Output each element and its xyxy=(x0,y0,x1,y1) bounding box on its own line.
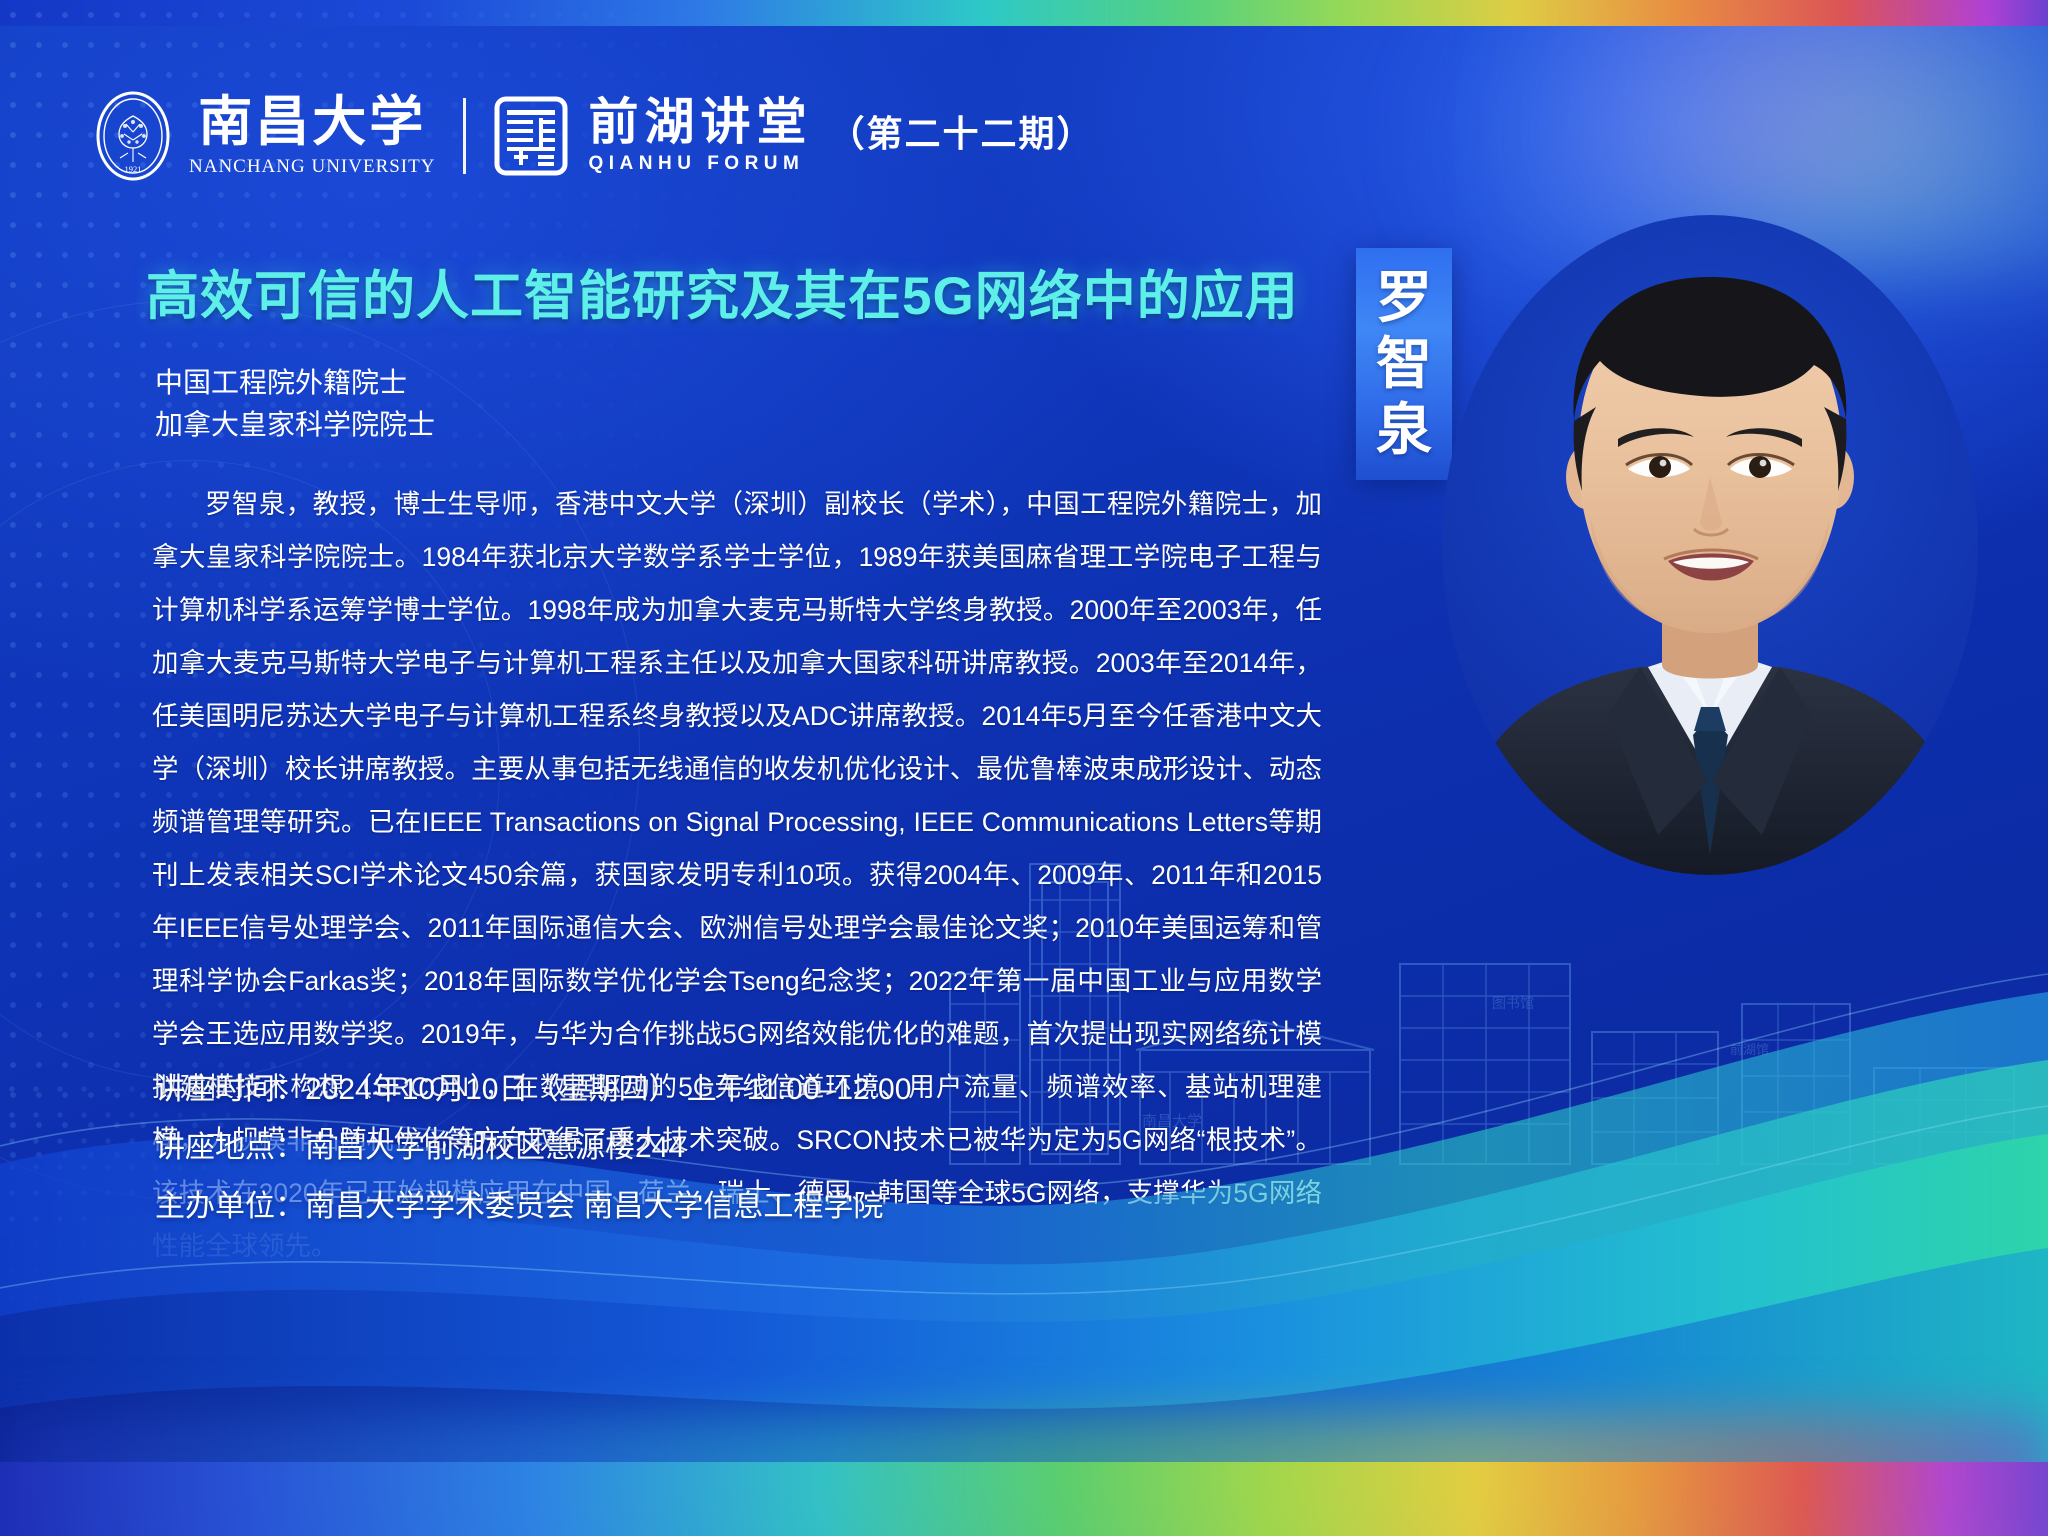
forum-name-cn: 前湖讲堂 xyxy=(588,97,812,148)
bottom-rainbow-strip xyxy=(0,1462,2048,1536)
nanchang-university-crest-icon: 1921 xyxy=(95,90,171,182)
university-name-en: NANCHANG UNIVERSITY xyxy=(189,156,435,178)
header-divider xyxy=(463,98,466,174)
lecture-title: 高效可信的人工智能研究及其在5G网络中的应用 xyxy=(146,254,1299,330)
speaker-portrait-photo xyxy=(1390,215,2030,875)
poster-canvas: 1921 南昌大学 NANCHANG UNIVERSITY xyxy=(0,0,2048,1536)
event-time: 讲座时间：2024年10月10日（星期四） 上午11:00–12:00 xyxy=(155,1061,911,1120)
crest-year-label: 1921 xyxy=(125,164,142,174)
speaker-credentials: 中国工程院外籍院士 加拿大皇家科学院院士 xyxy=(155,362,435,446)
university-name-block: 南昌大学 NANCHANG UNIVERSITY xyxy=(189,95,435,178)
credential-item-2: 加拿大皇家科学院院士 xyxy=(155,404,435,446)
qianhu-forum-seal-icon xyxy=(494,96,568,176)
forum-issue-number: （第二十二期） xyxy=(828,105,1094,167)
forum-name-block: 前湖讲堂 QIANHU FORUM xyxy=(588,97,812,175)
event-details: 讲座时间：2024年10月10日（星期四） 上午11:00–12:00 讲座地点… xyxy=(155,1061,911,1237)
event-organizer: 主办单位：南昌大学学术委员会 南昌大学信息工程学院 xyxy=(155,1178,911,1237)
university-name-cn: 南昌大学 xyxy=(198,95,426,149)
credential-item-1: 中国工程院外籍院士 xyxy=(155,362,435,404)
forum-name-en: QIANHU FORUM xyxy=(588,153,812,175)
poster-header: 1921 南昌大学 NANCHANG UNIVERSITY xyxy=(95,90,1094,182)
corner-bloom-secondary-decoration xyxy=(1488,0,2048,220)
event-location: 讲座地点：南昌大学前湖校区慧源楼244 xyxy=(155,1119,911,1178)
top-rainbow-strip xyxy=(0,0,2048,26)
